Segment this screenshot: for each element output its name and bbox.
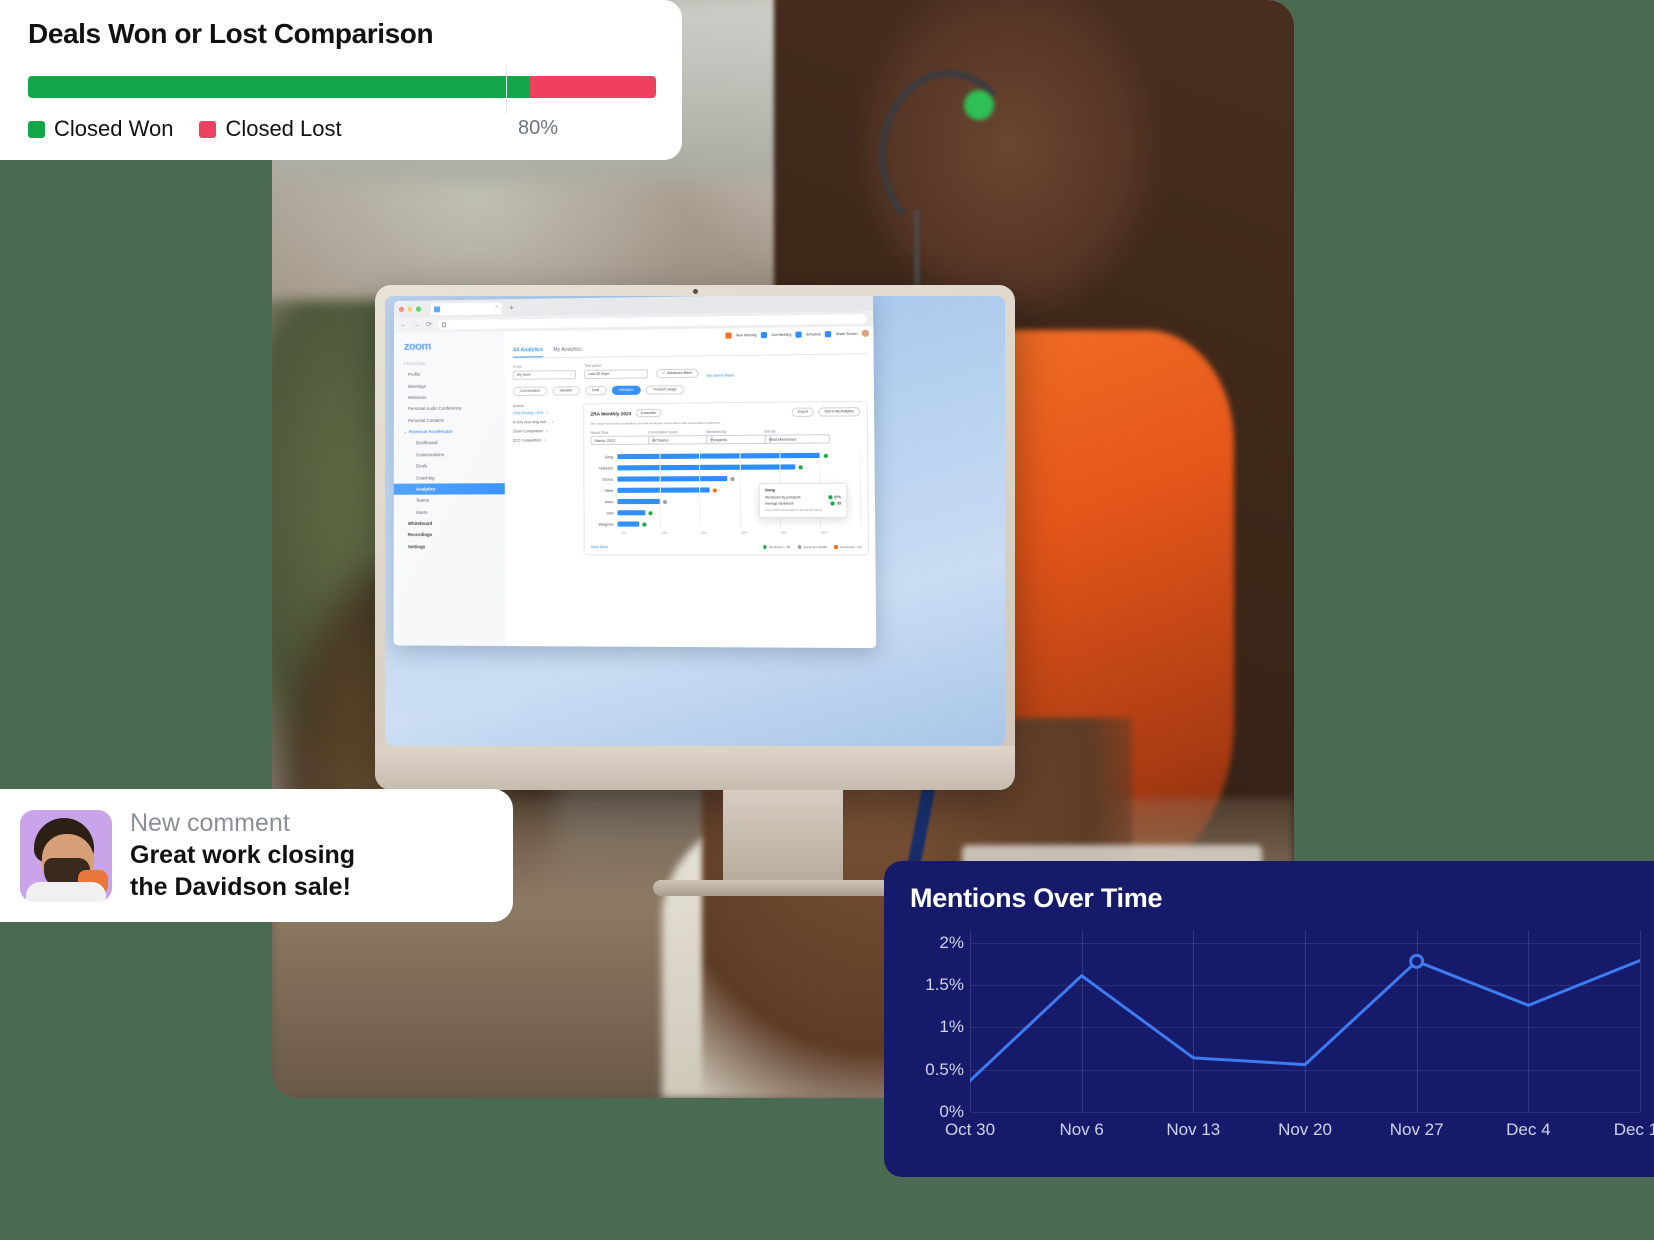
zoom-sidebar: zoom PERSONAL Profile Meetings Webinars … — [394, 331, 505, 646]
conversation-scope-field: Conversation Scope All Teams ⌄ — [648, 429, 700, 444]
mentions-over-time-card: Mentions Over Time 0%0.5%1%1.5%2% Oct 30… — [884, 861, 1654, 1177]
bar-label: Aviso — [591, 500, 618, 504]
new-comment-card[interactable]: New comment Great work closing the David… — [0, 789, 513, 922]
mentioned-by-label: Mentioned By — [706, 429, 758, 433]
deals-threshold-tick — [506, 66, 507, 114]
schedule-label[interactable]: Schedule — [806, 332, 821, 336]
conversation-scope-label: Conversation Scope — [648, 429, 700, 433]
sidebar-item-revenue-accelerator[interactable]: ⌄Revenue Accelerator — [394, 425, 505, 437]
x-tick-label: 20% — [701, 531, 741, 535]
monitor-chin — [375, 746, 1015, 790]
advanced-filters-button[interactable]: ▽ Advanced filters — [656, 368, 698, 378]
y-tick-label: 1% — [939, 1017, 964, 1037]
bar-label: Other — [591, 488, 618, 492]
time-period-label: Time period — [584, 363, 648, 368]
report-footer: View More Sentiment > 80 — [591, 545, 862, 549]
sidebar-item-recordings[interactable]: Recordings — [394, 529, 505, 541]
bar-label: Wingman — [591, 522, 618, 526]
search-item-label: A very very long indi... — [513, 419, 549, 423]
x-tick-label: 40% — [781, 530, 821, 534]
zoom-favicon-icon — [434, 306, 440, 312]
search-item[interactable]: ZCC Competitors × — [513, 438, 576, 443]
deals-won-segment — [28, 76, 530, 98]
comment-text: New comment Great work closing the David… — [130, 809, 495, 902]
conversation-scope-select[interactable]: All Teams ⌄ — [648, 435, 712, 445]
y-axis-labels: 0%0.5%1%1.5%2% — [910, 930, 964, 1112]
competitor-bar-chart: GongOutreachChorusOtherAvisoClariWingman… — [591, 449, 862, 541]
tooltip-value-text: 57% — [834, 495, 841, 499]
x-axis-labels: Oct 30Nov 6Nov 13Nov 20Nov 27Dec 4Dec 11 — [970, 1120, 1640, 1146]
report-time-select[interactable]: March, 2023 ⌄ — [590, 435, 654, 445]
zoom-app: zoom PERSONAL Profile Meetings Webinars … — [394, 326, 877, 648]
subscribe-button[interactable]: Subscribe — [635, 409, 661, 417]
sidebar-item-label: Revenue Accelerator — [409, 429, 453, 434]
tooltip-row-label: Average Sentiment — [765, 502, 793, 506]
y-tick-label: 1.5% — [925, 975, 964, 995]
search-item[interactable]: Zoom Competitors × — [513, 428, 576, 433]
comment-body-line2: the Davidson sale! — [130, 872, 495, 902]
time-period-value: Last 90 days — [588, 372, 609, 376]
chart-tooltip: Gong Mentioned by prospects 57% — [759, 483, 848, 518]
sentiment-legend: Sentiment > 80 Sentiment 40-80 — [763, 545, 861, 549]
filter-icon: ▽ — [662, 371, 665, 375]
sidebar-item-users[interactable]: Users — [394, 506, 505, 518]
report-controls: Report Time March, 2023 ⌄ Conversation S… — [590, 428, 860, 445]
sidebar-item-analytics[interactable]: Analytics — [394, 483, 505, 495]
zoom-main-panel: New Meeting Join Meeting Schedule Share … — [505, 326, 877, 648]
report-actions: Export Add to My Analytics — [792, 407, 861, 417]
x-tick-label: Dec 4 — [1506, 1120, 1550, 1140]
schedule-icon[interactable] — [795, 331, 801, 337]
legend-item: Sentiment > 80 — [763, 545, 790, 549]
legend-item-closed-lost: Closed Lost — [199, 116, 341, 142]
join-meeting-icon[interactable] — [761, 331, 767, 337]
filter-row: Scope My team ⌄ Time period Las — [513, 361, 868, 380]
sidebar-item-conversations[interactable]: Conversations — [394, 448, 505, 460]
analytics-tabs: All Analytics My Analytics — [513, 343, 867, 359]
sort-by-label: Sort By — [765, 429, 818, 434]
deals-card-title: Deals Won or Lost Comparison — [28, 18, 654, 50]
legend-dot-icon — [763, 545, 767, 549]
reload-icon[interactable]: ⟳ — [426, 321, 432, 328]
close-icon[interactable]: × — [552, 419, 554, 423]
zoom-topnav: New Meeting Join Meeting Schedule Share … — [725, 330, 869, 339]
y-tick-label: 0% — [939, 1102, 964, 1122]
mentions-card-title: Mentions Over Time — [910, 883, 1654, 914]
window-close-icon[interactable] — [399, 307, 404, 312]
mentioned-by-field: Mentioned By Prospects ⌄ — [706, 429, 758, 444]
x-tick-label: 10% — [661, 531, 701, 535]
plot-area — [970, 930, 1640, 1112]
scope-value: My team — [517, 373, 531, 377]
legend-swatch-icon — [199, 121, 216, 138]
legend-swatch-icon — [28, 121, 45, 138]
browser-window: × + ← → ⟳ z — [394, 296, 877, 648]
tooltip-row-value: 57% — [828, 495, 841, 499]
join-meeting-label[interactable]: Join Meeting — [771, 332, 791, 336]
view-more-link[interactable]: View More — [591, 545, 608, 549]
report-description: The most mentioned competitors and the s… — [590, 419, 860, 425]
highlighted-data-point[interactable] — [1411, 955, 1423, 967]
x-tick-label: Dec 11 — [1614, 1120, 1654, 1140]
chevron-down-icon: ⌄ — [569, 372, 572, 376]
window-maximize-icon[interactable] — [416, 307, 421, 312]
browser-tab[interactable]: × — [431, 302, 502, 315]
search-panel: Search ZRA Monthly 2023 × A very very lo… — [513, 403, 577, 555]
chip-product-usage[interactable]: Product Usage — [646, 385, 684, 395]
tooltip-row-label: Mentioned by prospects — [765, 495, 801, 499]
time-period-field: Time period Last 90 days ⌄ — [584, 363, 648, 378]
legend-item-closed-won: Closed Won — [28, 116, 173, 142]
mentions-plot: 0%0.5%1%1.5%2% Oct 30Nov 6Nov 13Nov 20No… — [910, 930, 1640, 1152]
back-icon[interactable]: ← — [400, 322, 407, 329]
chevron-down-icon: ⌄ — [404, 430, 407, 434]
sidebar-item-teams[interactable]: Teams — [394, 494, 505, 506]
deals-percent-label: 80% — [518, 117, 558, 140]
deals-legend: Closed Won Closed Lost 80% — [28, 116, 654, 142]
sidebar-item-coaching[interactable]: Coaching — [394, 471, 505, 483]
comment-header: New comment — [130, 809, 495, 838]
bar-label: Gong — [591, 455, 618, 459]
zoom-logo: zoom — [394, 338, 505, 360]
scope-field: Scope My team ⌄ — [513, 364, 576, 379]
legend-item: Sentiment 40-80 — [798, 545, 827, 549]
chip-indicators[interactable]: Indicators — [611, 385, 641, 394]
bar-label: Outreach — [591, 466, 618, 470]
deals-progress-bar — [28, 76, 656, 98]
conversation-scope-value: All Teams — [652, 438, 668, 442]
close-icon[interactable]: × — [546, 429, 548, 433]
tooltip-value-text: 85 — [837, 501, 841, 505]
new-meeting-icon[interactable] — [725, 332, 731, 338]
avatar-body — [26, 882, 106, 902]
sidebar-item-personal-contacts[interactable]: Personal Contacts — [394, 414, 505, 426]
new-meeting-label[interactable]: New Meeting — [736, 333, 757, 337]
sort-by-value: Most Mentioned — [769, 437, 796, 441]
scope-label: Scope — [513, 364, 576, 369]
gridline — [1640, 930, 1641, 1112]
content-row: Search ZRA Monthly 2023 × A very very lo… — [513, 400, 869, 555]
x-tick-label: 0% — [622, 531, 661, 535]
x-tick-label: 30% — [741, 530, 781, 534]
mentioned-by-select[interactable]: Prospects ⌄ — [706, 435, 771, 445]
chip-deal[interactable]: Deal — [585, 385, 607, 394]
x-tick-label: Oct 30 — [945, 1120, 995, 1140]
sort-by-field: Sort By Most Mentioned ⌄ — [765, 429, 818, 444]
deals-lost-segment — [530, 76, 656, 98]
legend-label: Closed Won — [54, 116, 173, 142]
sidebar-item-personal-audio-conference[interactable]: Personal Audio Conference — [394, 402, 505, 414]
tooltip-title: Gong — [765, 488, 841, 492]
composition-root: × + ← → ⟳ z — [0, 0, 1654, 1240]
tooltip-row: Mentioned by prospects 57% — [765, 495, 841, 499]
chip-speaker[interactable]: Speaker — [552, 386, 579, 395]
chip-conversation[interactable]: Conversation — [513, 386, 548, 395]
monitor-stand — [723, 790, 843, 885]
sentiment-dot-icon — [831, 501, 835, 505]
x-tick-label: Nov 20 — [1278, 1120, 1332, 1140]
mentioned-by-value: Prospects — [710, 438, 727, 442]
monitor-screen: × + ← → ⟳ z — [385, 296, 1005, 746]
share-screen-icon[interactable] — [825, 331, 831, 337]
report-card: ZRA Monthly 2023 Subscribe Export Add to… — [583, 400, 869, 555]
search-label: Search — [513, 403, 576, 408]
legend-item: Sentiment < 40 — [834, 545, 861, 549]
time-period-select[interactable]: Last 90 days ⌄ — [584, 369, 648, 379]
bar-label: Chorus — [591, 477, 618, 481]
advanced-filters-label: Advanced filters — [667, 371, 692, 375]
lock-icon — [442, 322, 446, 327]
close-icon[interactable]: × — [544, 438, 546, 442]
search-item-label: ZCC Competitors — [513, 438, 541, 442]
mentions-line-series — [970, 930, 1640, 1112]
legend-dot-icon — [798, 545, 802, 549]
deals-comparison-card: Deals Won or Lost Comparison Closed Won … — [0, 0, 682, 160]
search-item[interactable]: ZRA Monthly 2023 × — [513, 410, 576, 415]
monitor-foot — [653, 880, 913, 896]
saved-views-link[interactable]: My Saved Views — [707, 373, 735, 377]
export-button[interactable]: Export — [792, 407, 814, 416]
x-tick-label: Nov 27 — [1390, 1120, 1444, 1140]
sort-by-select[interactable]: Most Mentioned ⌄ — [765, 434, 830, 444]
chevron-down-icon: ⌄ — [823, 437, 826, 441]
report-title: ZRA Monthly 2023 — [590, 411, 631, 416]
share-screen-label[interactable]: Share Screen — [836, 331, 858, 335]
bar-label: Clari — [591, 511, 618, 515]
category-chips: Conversation Speaker Deal Indicators Pro… — [513, 383, 868, 396]
tab-my-analytics[interactable]: My Analytics — [553, 347, 581, 357]
window-minimize-icon[interactable] — [407, 307, 412, 312]
chevron-down-icon: ⌄ — [641, 371, 644, 375]
new-tab-icon[interactable]: + — [509, 304, 514, 312]
tab-close-icon[interactable]: × — [495, 305, 498, 310]
forward-icon[interactable]: → — [413, 322, 420, 329]
search-item-label: Zoom Competitors — [513, 429, 543, 433]
legend-label: Sentiment < 40 — [840, 545, 862, 549]
gridline — [970, 1112, 1640, 1113]
report-time-label: Report Time — [590, 430, 641, 434]
tooltip-row: Average Sentiment 85 — [765, 501, 841, 505]
search-item-label: ZRA Monthly 2023 — [513, 410, 543, 414]
sidebar-item-deals[interactable]: Deals — [394, 460, 505, 472]
headset-indicator-icon — [964, 90, 994, 120]
sidebar-item-settings[interactable]: Settings — [394, 541, 505, 553]
comment-body-line1: Great work closing — [130, 840, 495, 870]
legend-dot-icon — [834, 545, 838, 549]
legend-label: Sentiment > 80 — [769, 545, 790, 549]
scope-select[interactable]: My team ⌄ — [513, 370, 576, 380]
webcam-icon — [693, 289, 698, 294]
report-time-field: Report Time March, 2023 ⌄ — [590, 430, 642, 445]
sidebar-item-dashboard[interactable]: Dashboard — [394, 437, 505, 449]
tooltip-footer: Out of 200 conversations across all team… — [765, 509, 841, 513]
x-tick-label: 50% — [821, 530, 861, 534]
x-tick-label: Nov 13 — [1166, 1120, 1220, 1140]
legend-label: Sentiment 40-80 — [804, 545, 827, 549]
legend-label: Closed Lost — [225, 116, 341, 142]
report-header: ZRA Monthly 2023 Subscribe Export Add to… — [590, 407, 860, 419]
y-tick-label: 2% — [939, 933, 964, 953]
sidebar-item-whiteboard[interactable]: Whiteboard — [394, 518, 505, 530]
search-item[interactable]: A very very long indi... × — [513, 419, 576, 424]
sentiment-dot-icon — [828, 495, 832, 499]
chart-x-axis: 0%10%20%30%40%50% — [622, 530, 862, 534]
tab-all-analytics[interactable]: All Analytics — [513, 347, 543, 357]
report-time-value: March, 2023 — [595, 438, 616, 442]
y-tick-label: 0.5% — [925, 1060, 964, 1080]
add-to-my-analytics-button[interactable]: Add to My Analytics — [818, 407, 860, 417]
close-icon[interactable]: × — [546, 410, 548, 414]
imac-computer: × + ← → ⟳ z — [375, 285, 1015, 790]
avatar — [20, 810, 112, 902]
avatar[interactable] — [862, 330, 869, 337]
x-tick-label: Nov 6 — [1059, 1120, 1103, 1140]
tooltip-row-value: 85 — [831, 501, 841, 505]
